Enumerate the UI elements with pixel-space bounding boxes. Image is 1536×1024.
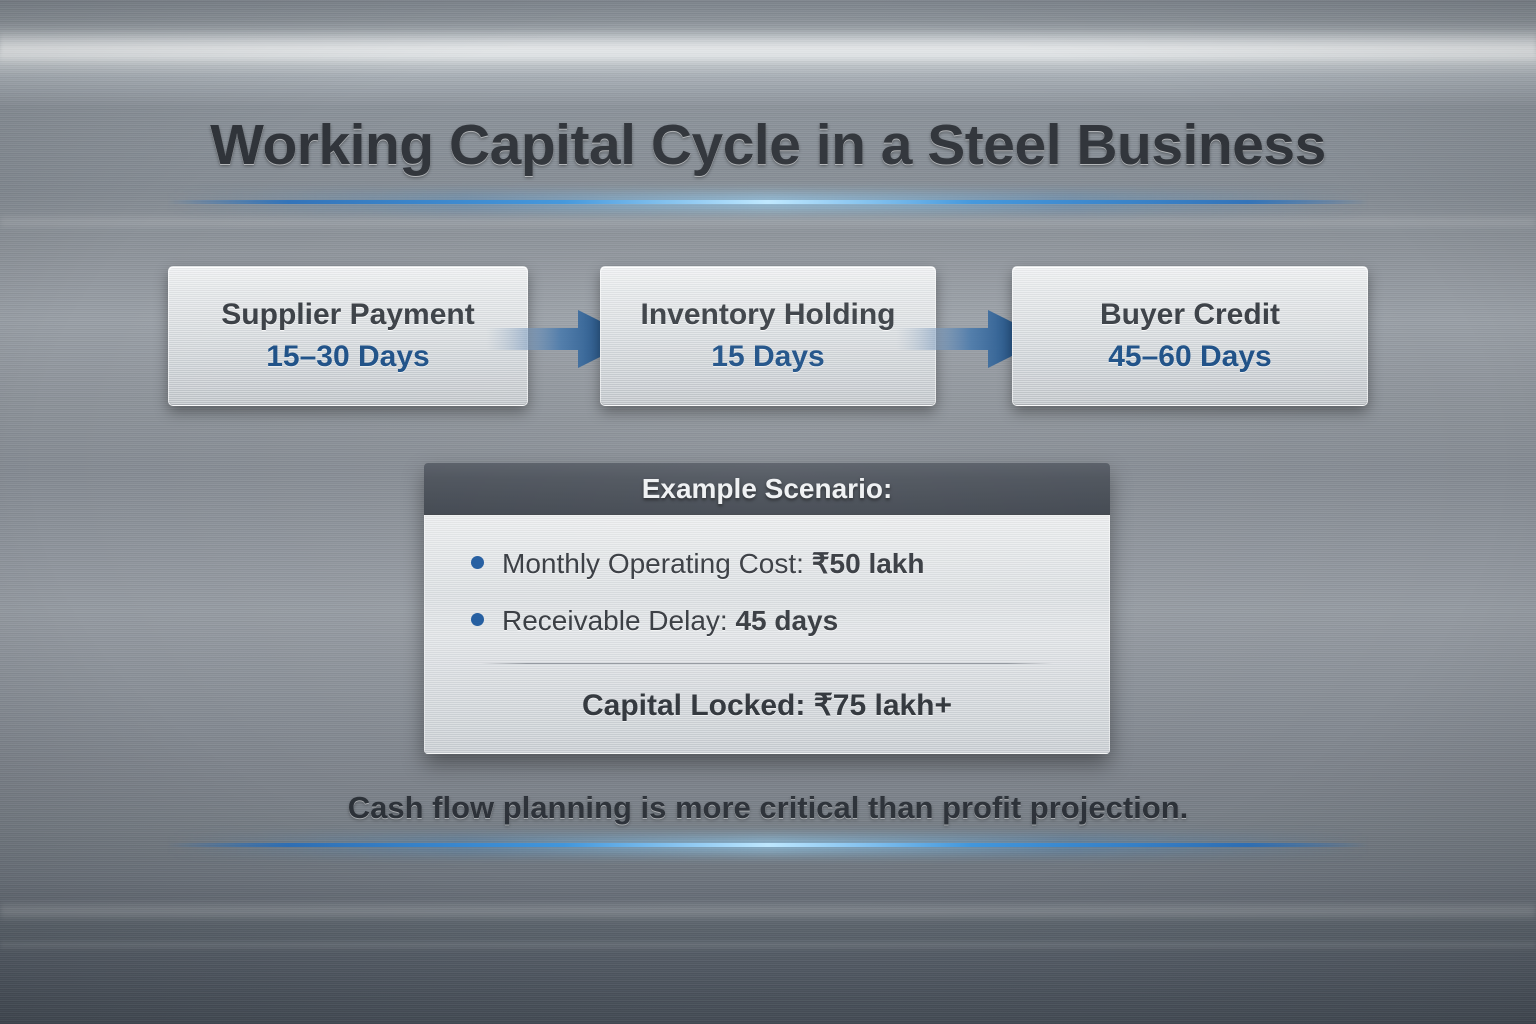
card-header: Example Scenario: [424,463,1110,515]
flow-step-buyer-credit[interactable]: Buyer Credit 45–60 Days [1012,266,1368,406]
flow-step-label: Supplier Payment [221,300,474,330]
list-item: Monthly Operating Cost: ₹50 lakh [471,549,1063,580]
accent-rule-top [168,200,1368,204]
bullet-label: Monthly Operating Cost: [502,548,804,579]
card-body: Monthly Operating Cost: ₹50 lakh Receiva… [424,515,1110,754]
accent-rule-core [168,843,1368,847]
list-item: Receivable Delay: 45 days [471,606,1063,637]
accent-rule-bottom [168,843,1368,847]
card-header-title: Example Scenario: [642,473,893,505]
steel-highlight-bottom [0,940,1536,950]
example-scenario-card: Example Scenario: Monthly Operating Cost… [424,463,1110,754]
bullet-dot-icon [471,613,484,626]
accent-rule-core [168,200,1368,204]
bullet-content: Receivable Delay: 45 days [502,606,838,637]
flow-step-label: Inventory Holding [641,300,896,330]
capital-locked-value: ₹75 lakh+ [814,689,952,722]
bullet-value: 45 days [735,605,838,636]
card-divider [481,663,1053,664]
flow-step-value: 45–60 Days [1108,342,1271,372]
flow-step-label: Buyer Credit [1100,300,1280,330]
steel-highlight-low [0,900,1536,922]
flow-step-inventory-holding[interactable]: Inventory Holding 15 Days [600,266,936,406]
bullet-dot-icon [471,556,484,569]
steel-highlight-top [0,30,1536,64]
flow-step-value: 15 Days [711,342,824,372]
capital-locked-row: Capital Locked: ₹75 lakh+ [471,688,1063,723]
bullet-content: Monthly Operating Cost: ₹50 lakh [502,549,924,580]
bullet-value: ₹50 lakh [812,548,925,579]
footer-tagline: Cash flow planning is more critical than… [0,790,1536,826]
infographic-canvas: Working Capital Cycle in a Steel Busines… [0,0,1536,1024]
process-flow: Supplier Payment 15–30 Days Inventory [168,266,1368,406]
scenario-bullet-list: Monthly Operating Cost: ₹50 lakh Receiva… [471,549,1063,637]
flow-step-supplier-payment[interactable]: Supplier Payment 15–30 Days [168,266,528,406]
flow-step-value: 15–30 Days [266,342,429,372]
bullet-label: Receivable Delay: [502,605,728,636]
steel-highlight-mid [0,214,1536,230]
capital-locked-label: Capital Locked: [582,689,805,722]
page-title: Working Capital Cycle in a Steel Busines… [0,112,1536,178]
